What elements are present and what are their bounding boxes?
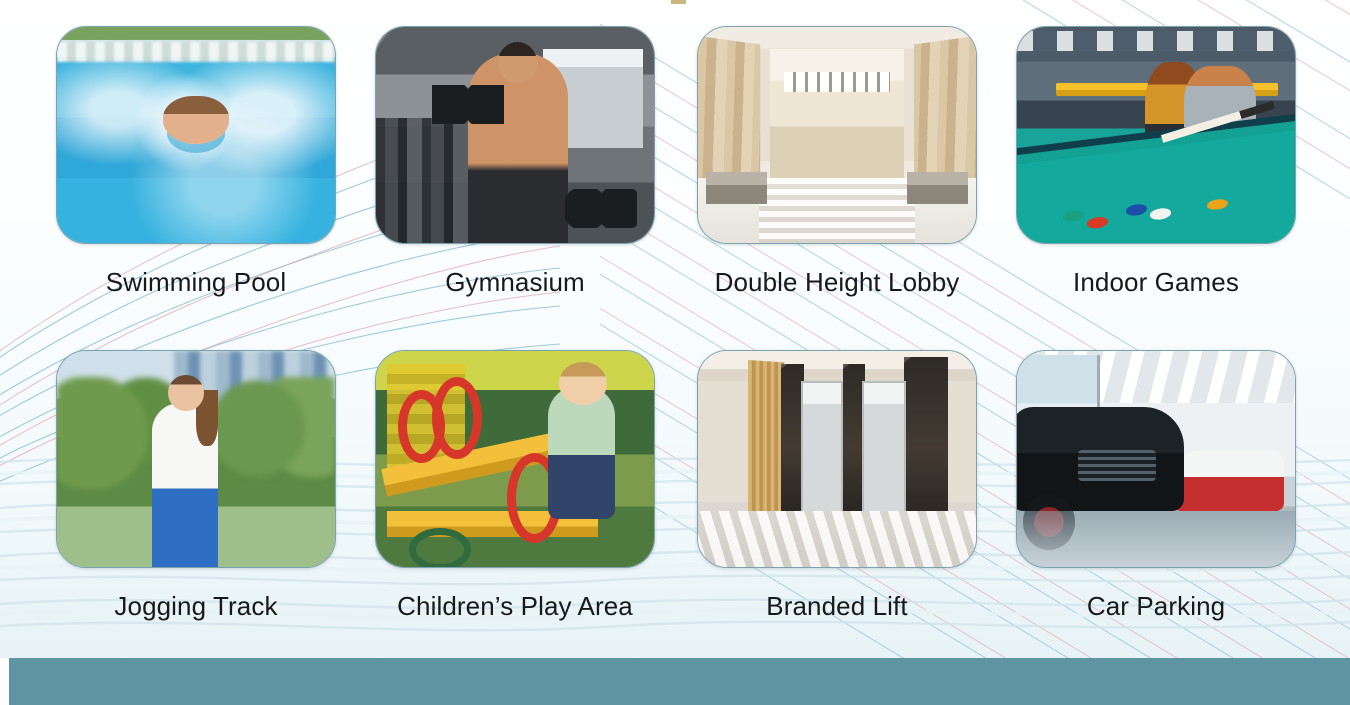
- childrens-play-area-photo: [375, 350, 655, 568]
- amenity-card-childrens-play-area[interactable]: Children’s Play Area: [375, 350, 675, 622]
- gymnasium-photo: [375, 26, 655, 244]
- car-parking-photo: [1016, 350, 1296, 568]
- jogging-track-photo: [56, 350, 336, 568]
- lobby-back-wall-detail: [770, 49, 903, 183]
- branded-lift-photo: [697, 350, 977, 568]
- indoor-games-image: [1017, 27, 1295, 243]
- gym-athlete-head-detail: [498, 42, 537, 83]
- lift-door-two-detail: [862, 381, 906, 515]
- amenity-card-swimming-pool[interactable]: Swimming Pool: [56, 26, 356, 298]
- amenity-card-car-parking[interactable]: Car Parking: [1016, 350, 1316, 622]
- amenities-grid: Swimming Pool Gymnasium: [0, 0, 1350, 705]
- branded-lift-image: [698, 351, 976, 567]
- amenity-label-car-parking: Car Parking: [1016, 590, 1296, 622]
- amenity-label-branded-lift: Branded Lift: [697, 590, 977, 622]
- child-body-detail: [548, 386, 615, 520]
- amenity-card-double-height-lobby[interactable]: Double Height Lobby: [697, 26, 997, 298]
- lift-door-one-detail: [801, 381, 843, 515]
- dumbbell-detail: [432, 85, 504, 124]
- swimming-pool-photo: [56, 26, 336, 244]
- footer-left-notch: [0, 658, 9, 705]
- amenity-card-indoor-games[interactable]: Indoor Games: [1016, 26, 1316, 298]
- lobby-left-sofa-detail: [706, 172, 767, 204]
- car-parking-image: [1017, 351, 1295, 567]
- pool-ball-yellow: [1207, 197, 1228, 210]
- pool-ball-red: [1087, 216, 1108, 229]
- pool-ball-blue: [1126, 203, 1147, 216]
- double-height-lobby-photo: [697, 26, 977, 244]
- amenity-card-gymnasium[interactable]: Gymnasium: [375, 26, 675, 298]
- amenity-card-jogging-track[interactable]: Jogging Track: [56, 350, 356, 622]
- lobby-clerestory-windows-detail: [784, 72, 890, 91]
- play-wheel-detail: [409, 528, 470, 568]
- double-height-lobby-image: [698, 27, 976, 243]
- amenity-card-branded-lift[interactable]: Branded Lift: [697, 350, 997, 622]
- child-head-detail: [559, 362, 606, 405]
- pool-ball-green: [1063, 209, 1084, 222]
- showroom-floor-reflection-detail: [1017, 511, 1295, 567]
- pool-ball-cue: [1150, 207, 1171, 220]
- lobby-right-sofa-detail: [907, 172, 968, 204]
- play-hoop-two-detail: [432, 377, 482, 459]
- amenity-label-jogging-track: Jogging Track: [56, 590, 336, 622]
- goggles-detail: [170, 118, 223, 132]
- swimming-pool-image: [57, 27, 335, 243]
- pool-table-detail: [1016, 112, 1296, 244]
- footer-bar: [0, 658, 1350, 705]
- red-car-detail: [1173, 450, 1284, 510]
- jogging-track-image: [57, 351, 335, 567]
- dumbbell-secondary-detail: [565, 189, 637, 228]
- games-ceiling-lights-detail: [1017, 31, 1295, 50]
- amenity-label-gymnasium: Gymnasium: [375, 266, 655, 298]
- amenity-label-double-height-lobby: Double Height Lobby: [667, 266, 1007, 298]
- amenity-label-indoor-games: Indoor Games: [1016, 266, 1296, 298]
- gymnasium-image: [376, 27, 654, 243]
- amenities-slide: Swimming Pool Gymnasium: [0, 0, 1350, 705]
- suv-grille-detail: [1078, 450, 1156, 480]
- indoor-games-photo: [1016, 26, 1296, 244]
- childrens-play-area-image: [376, 351, 654, 567]
- lift-floor-detail: [698, 511, 976, 567]
- amenity-label-swimming-pool: Swimming Pool: [56, 266, 336, 298]
- amenity-label-childrens-play-area: Children’s Play Area: [345, 590, 685, 622]
- lift-gold-fluting-detail: [748, 360, 784, 516]
